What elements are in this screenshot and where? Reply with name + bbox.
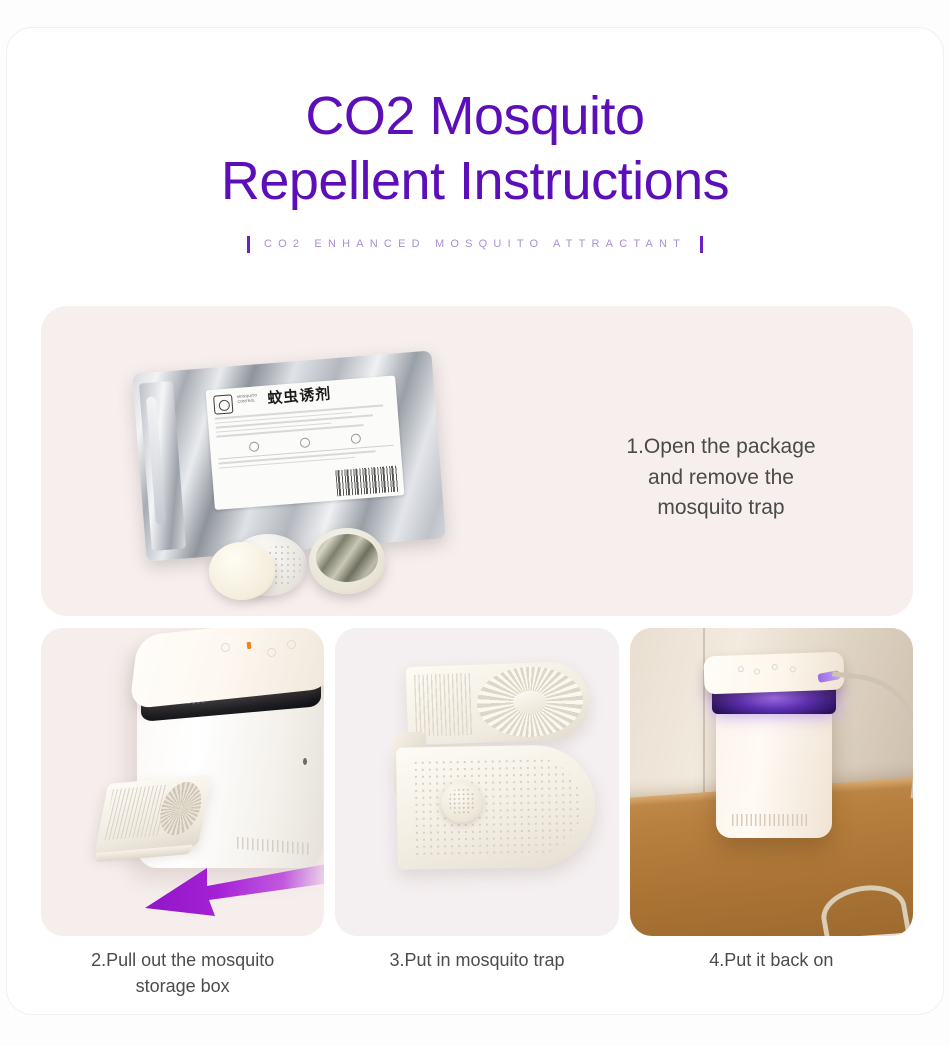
warning-icon — [300, 437, 311, 448]
storage-box-tray — [396, 744, 596, 869]
device-led-indicator — [247, 642, 252, 649]
pull-direction-arrow-icon — [137, 856, 324, 918]
attractant-tablet-image — [209, 542, 275, 600]
device-control-icon — [771, 664, 777, 670]
lid-mesh — [414, 673, 474, 737]
subtitle-row: CO2 ENHANCED MOSQUITO ATTRACTANT — [7, 236, 943, 253]
photo-row — [41, 628, 913, 936]
device-sensor-icon — [303, 758, 307, 765]
step-2-caption: 2.Pull out the mosquito storage box — [41, 948, 324, 999]
device-control-icon — [789, 666, 795, 672]
subtitle-bar-right — [700, 236, 703, 253]
package-photo: MOSQUITO CONTROL 蚊虫诱剂 — [41, 306, 561, 616]
wall-corner-line — [703, 628, 705, 813]
device-control-icon — [737, 666, 743, 672]
pouch-label: MOSQUITO CONTROL 蚊虫诱剂 — [206, 375, 405, 510]
page-title: CO2 Mosquito Repellent Instructions — [7, 84, 943, 214]
product-name-cn: 蚊虫诱剂 — [267, 387, 332, 407]
header: CO2 Mosquito Repellent Instructions CO2 … — [7, 84, 943, 253]
step-4-caption: 4.Put it back on — [630, 948, 913, 999]
step-2-photo — [41, 628, 324, 936]
assembled-device — [716, 702, 832, 838]
page-subtitle: CO2 ENHANCED MOSQUITO ATTRACTANT — [264, 238, 686, 250]
barcode-icon — [335, 466, 399, 497]
storage-box-drawer — [94, 775, 211, 856]
pouch-label-header: MOSQUITO CONTROL 蚊虫诱剂 — [213, 382, 390, 415]
lid-fan-grille-icon — [476, 665, 584, 739]
tray-perforations — [412, 757, 582, 858]
storage-box-lid — [406, 661, 591, 745]
mosquito-control-logo-icon — [213, 394, 233, 414]
content-card: CO2 Mosquito Repellent Instructions CO2 … — [6, 27, 944, 1015]
device-bottom-vents — [732, 814, 810, 826]
step-1-panel: MOSQUITO CONTROL 蚊虫诱剂 — [41, 306, 913, 616]
step-4-photo — [630, 628, 913, 936]
brand-line-2: CONTROL — [237, 398, 259, 404]
drawer-mesh — [103, 785, 169, 841]
foil-tin-image — [309, 528, 385, 594]
step-3-caption: 3.Put in mosquito trap — [335, 948, 618, 999]
warning-icon — [350, 433, 361, 444]
warning-icon — [249, 441, 260, 452]
infographic-page: CO2 Mosquito Repellent Instructions CO2 … — [0, 0, 950, 1046]
brand-text: MOSQUITO CONTROL — [237, 393, 260, 404]
step-1-caption: 1.Open the package and remove the mosqui… — [561, 432, 881, 524]
subtitle-bar-left — [247, 236, 250, 253]
device-control-icon — [753, 668, 759, 674]
caption-row: 2.Pull out the mosquito storage box 3.Pu… — [41, 948, 913, 999]
step-3-photo — [335, 628, 618, 936]
foil-pouch-image: MOSQUITO CONTROL 蚊虫诱剂 — [132, 351, 446, 562]
